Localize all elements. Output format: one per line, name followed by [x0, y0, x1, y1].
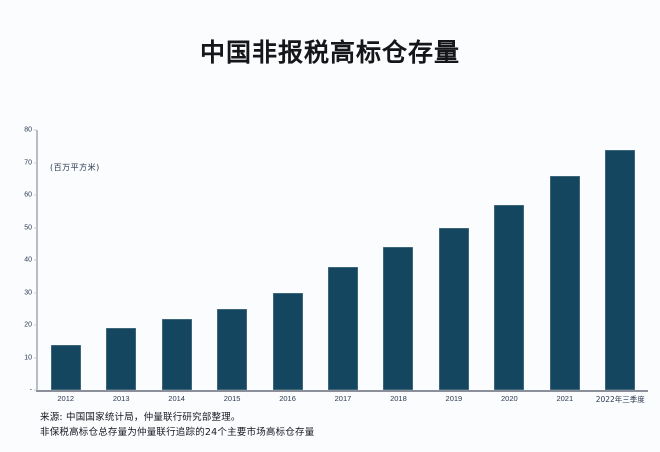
- x-axis-line: [36, 390, 648, 392]
- bar-2014[interactable]: [162, 319, 192, 391]
- y-tick-mark: [34, 195, 37, 196]
- y-tick-label: 50: [8, 224, 32, 231]
- plot-area: 8070605040302010- (百万平方米): [36, 130, 648, 392]
- bar-2018[interactable]: [383, 247, 413, 390]
- bar-2012[interactable]: [51, 345, 81, 391]
- footnote-note: 非保税高标仓总存量为仲量联行追踪的24个主要市场高标仓存量: [40, 425, 640, 440]
- y-tick-mark: [34, 292, 37, 293]
- footnote-source: 来源: 中国国家统计局，仲量联行研究部整理。: [40, 410, 640, 425]
- y-tick-label: 10: [8, 354, 32, 361]
- bar-2017[interactable]: [328, 267, 358, 391]
- y-tick-label: 40: [8, 257, 32, 264]
- y-tick-label: 70: [8, 159, 32, 166]
- y-tick-mark: [34, 130, 37, 131]
- y-axis-tick-labels: 8070605040302010-: [8, 130, 32, 392]
- bar-2015[interactable]: [217, 309, 247, 390]
- footnote-block: 来源: 中国国家统计局，仲量联行研究部整理。 非保税高标仓总存量为仲量联行追踪的…: [40, 410, 640, 440]
- page-title: 中国非报税高标仓存量: [0, 33, 660, 69]
- y-tick-mark: [34, 227, 37, 228]
- y-tick-label: 30: [8, 289, 32, 296]
- bar-2020[interactable]: [494, 205, 524, 390]
- y-tick-label: 20: [8, 322, 32, 329]
- bar-2019[interactable]: [439, 228, 469, 391]
- y-tick-mark: [34, 357, 37, 358]
- bar-2016[interactable]: [273, 293, 303, 391]
- x-tick-label-2022年三季度: 2022年三季度: [583, 394, 658, 405]
- bar-2013[interactable]: [106, 328, 136, 390]
- bar-2022年三季度[interactable]: [605, 150, 635, 391]
- y-tick-label: 60: [8, 192, 32, 199]
- y-tick-mark: [34, 325, 37, 326]
- y-tick-label: 80: [8, 127, 32, 134]
- y-tick-mark: [34, 390, 37, 391]
- bar-2021[interactable]: [550, 176, 580, 391]
- chart-page: 中国非报税高标仓存量 8070605040302010- (百万平方米) 201…: [0, 0, 660, 452]
- y-tick-label: -: [8, 387, 32, 394]
- bar-series: [38, 130, 648, 390]
- y-tick-mark: [34, 260, 37, 261]
- y-tick-mark: [34, 162, 37, 163]
